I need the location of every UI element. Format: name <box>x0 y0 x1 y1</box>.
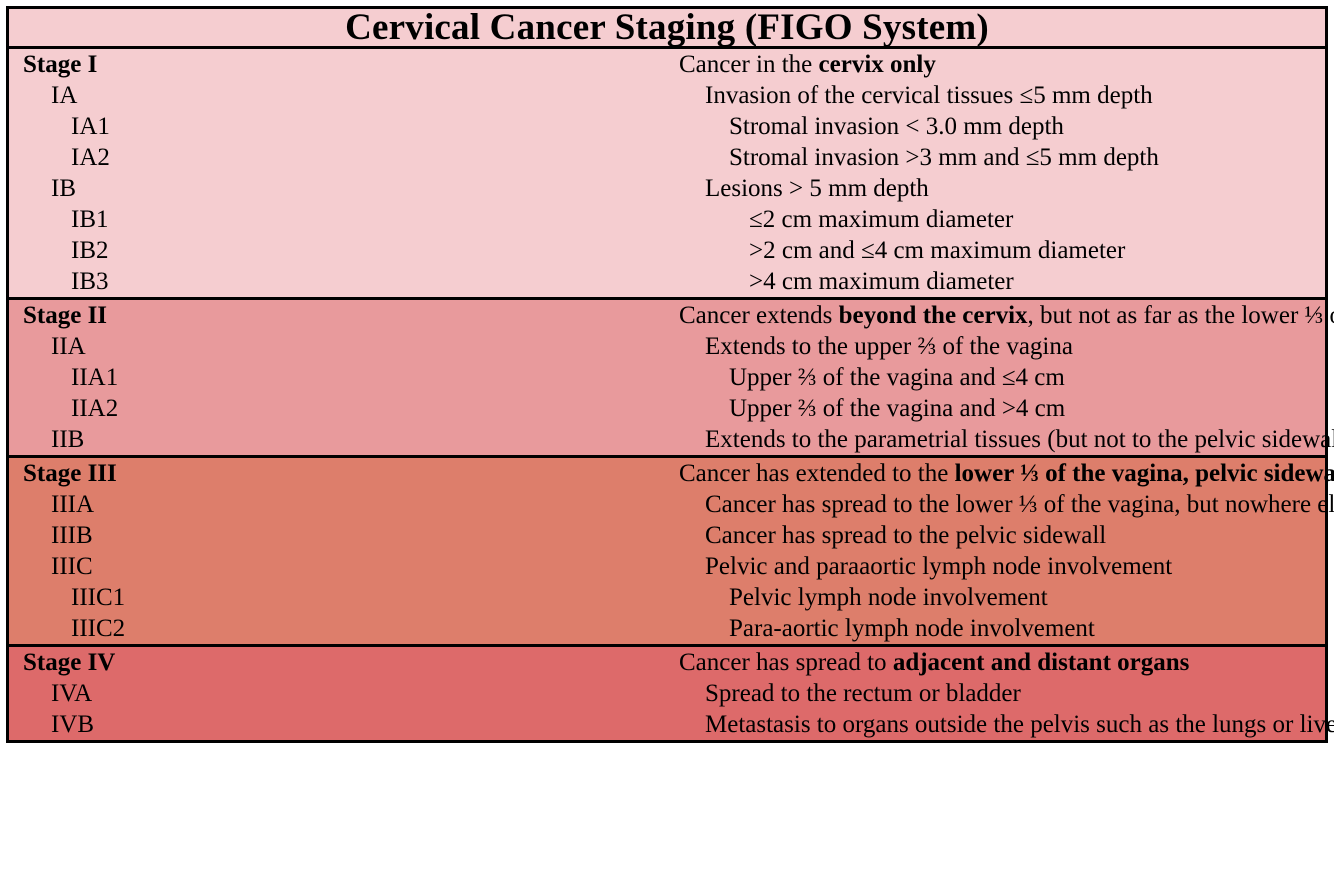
figo-staging-table-body: Cervical Cancer Staging (FIGO System) St… <box>9 9 1325 740</box>
desc-text: Upper ⅔ of the vagina and >4 cm <box>729 395 1065 422</box>
figo-staging-table-frame: Cervical Cancer Staging (FIGO System) St… <box>6 6 1328 743</box>
stage-description-column: Cancer has extended to the lower ⅓ of th… <box>667 457 1325 646</box>
substage-label: IIB <box>9 424 667 455</box>
substage-description: ≤2 cm maximum diameter <box>667 204 1325 235</box>
substage-description: Lesions > 5 mm depth <box>667 173 1325 204</box>
desc-text: Cancer has spread to <box>679 649 893 676</box>
desc-text: Lesions > 5 mm depth <box>705 175 929 202</box>
stage-row-3: Stage IIIIIIAIIIBIIICIIIC1IIIC2Cancer ha… <box>9 457 1325 646</box>
desc-text: Invasion of the cervical tissues ≤5 mm d… <box>705 82 1153 109</box>
desc-text-emphasis: cervix only <box>819 51 936 78</box>
substage-description: Upper ⅔ of the vagina and >4 cm <box>667 393 1325 424</box>
substage-description: Invasion of the cervical tissues ≤5 mm d… <box>667 80 1325 111</box>
substage-description: Extends to the parametrial tissues (but … <box>667 424 1325 455</box>
substage-description: Upper ⅔ of the vagina and ≤4 cm <box>667 362 1325 393</box>
substage-label: IIIA <box>9 489 667 520</box>
desc-text: Metastasis to organs outside the pelvis … <box>705 711 1334 738</box>
substage-label: IIA1 <box>9 362 667 393</box>
desc-text-emphasis: lower ⅓ of the vagina, pelvic sidewall, … <box>955 460 1334 487</box>
desc-text-emphasis: beyond the cervix <box>839 302 1028 329</box>
stage-label-column: Stage IVIVAIVB <box>9 646 667 741</box>
desc-text: Cancer in the <box>679 51 819 78</box>
desc-text: Stromal invasion < 3.0 mm depth <box>729 113 1064 140</box>
substage-description: Cancer has spread to the pelvic sidewall <box>667 520 1325 551</box>
desc-text: Cancer has spread to the lower ⅓ of the … <box>705 491 1334 518</box>
stage-description-main: Cancer has spread to adjacent and distan… <box>667 647 1325 678</box>
substage-label: IIIC1 <box>9 582 667 613</box>
stage-heading-label: Stage III <box>9 458 667 489</box>
substage-description: Pelvic lymph node involvement <box>667 582 1325 613</box>
desc-text: Extends to the parametrial tissues (but … <box>705 426 1334 453</box>
desc-text: Extends to the upper ⅔ of the vagina <box>705 333 1073 360</box>
desc-text: >2 cm and ≤4 cm maximum diameter <box>749 237 1125 264</box>
substage-description: Para-aortic lymph node involvement <box>667 613 1325 644</box>
stage-label-column: Stage IIIIAIIA1IIA2IIB <box>9 299 667 457</box>
substage-label: IB1 <box>9 204 667 235</box>
stage-description-main: Cancer in the cervix only <box>667 49 1325 80</box>
substage-description: Stromal invasion >3 mm and ≤5 mm depth <box>667 142 1325 173</box>
title-row: Cervical Cancer Staging (FIGO System) <box>9 9 1325 48</box>
stage-description-column: Cancer in the cervix onlyInvasion of the… <box>667 48 1325 299</box>
figo-staging-table: Cervical Cancer Staging (FIGO System) St… <box>9 9 1325 740</box>
substage-label: IVB <box>9 709 667 740</box>
desc-text-tail: , but not as far as the lower ⅓ of the v… <box>1028 302 1334 329</box>
stage-description-main: Cancer has extended to the lower ⅓ of th… <box>667 458 1325 489</box>
substage-description: Extends to the upper ⅔ of the vagina <box>667 331 1325 362</box>
substage-label: IA1 <box>9 111 667 142</box>
substage-description: Pelvic and paraaortic lymph node involve… <box>667 551 1325 582</box>
substage-description: Metastasis to organs outside the pelvis … <box>667 709 1325 740</box>
substage-label: IA2 <box>9 142 667 173</box>
stage-row-4: Stage IVIVAIVBCancer has spread to adjac… <box>9 646 1325 741</box>
desc-text: Pelvic and paraaortic lymph node involve… <box>705 553 1172 580</box>
desc-text: Pelvic lymph node involvement <box>729 584 1048 611</box>
desc-text: Cancer extends <box>679 302 839 329</box>
desc-text-emphasis: adjacent and distant organs <box>893 649 1190 676</box>
desc-text: Cancer has extended to the <box>679 460 955 487</box>
stage-label-column: Stage IIAIA1IA2IBIB1IB2IB3 <box>9 48 667 299</box>
desc-text: Cancer has spread to the pelvic sidewall <box>705 522 1106 549</box>
page-title: Cervical Cancer Staging (FIGO System) <box>9 9 1325 48</box>
substage-label: IIA2 <box>9 393 667 424</box>
stage-row-2: Stage IIIIAIIA1IIA2IIBCancer extends bey… <box>9 299 1325 457</box>
desc-text: Para-aortic lymph node involvement <box>729 615 1095 642</box>
desc-text: Stromal invasion >3 mm and ≤5 mm depth <box>729 144 1159 171</box>
stage-row-1: Stage IIAIA1IA2IBIB1IB2IB3Cancer in the … <box>9 48 1325 299</box>
substage-label: IB <box>9 173 667 204</box>
stage-description-column: Cancer has spread to adjacent and distan… <box>667 646 1325 741</box>
substage-label: IB2 <box>9 235 667 266</box>
substage-label: IA <box>9 80 667 111</box>
desc-text: Spread to the rectum or bladder <box>705 680 1021 707</box>
stage-heading-label: Stage II <box>9 300 667 331</box>
substage-description: Stromal invasion < 3.0 mm depth <box>667 111 1325 142</box>
stage-heading-label: Stage I <box>9 49 667 80</box>
substage-label: IIIB <box>9 520 667 551</box>
substage-label: IVA <box>9 678 667 709</box>
stage-label-column: Stage IIIIIIAIIIBIIICIIIC1IIIC2 <box>9 457 667 646</box>
stage-description-column: Cancer extends beyond the cervix, but no… <box>667 299 1325 457</box>
stage-description-main: Cancer extends beyond the cervix, but no… <box>667 300 1325 331</box>
stage-heading-label: Stage IV <box>9 647 667 678</box>
desc-text: >4 cm maximum diameter <box>749 268 1014 295</box>
substage-description: Spread to the rectum or bladder <box>667 678 1325 709</box>
desc-text: Upper ⅔ of the vagina and ≤4 cm <box>729 364 1065 391</box>
substage-label: IIIC2 <box>9 613 667 644</box>
substage-label: IB3 <box>9 266 667 297</box>
substage-label: IIIC <box>9 551 667 582</box>
desc-text: ≤2 cm maximum diameter <box>749 206 1013 233</box>
substage-description: >4 cm maximum diameter <box>667 266 1325 297</box>
substage-description: >2 cm and ≤4 cm maximum diameter <box>667 235 1325 266</box>
substage-description: Cancer has spread to the lower ⅓ of the … <box>667 489 1325 520</box>
substage-label: IIA <box>9 331 667 362</box>
